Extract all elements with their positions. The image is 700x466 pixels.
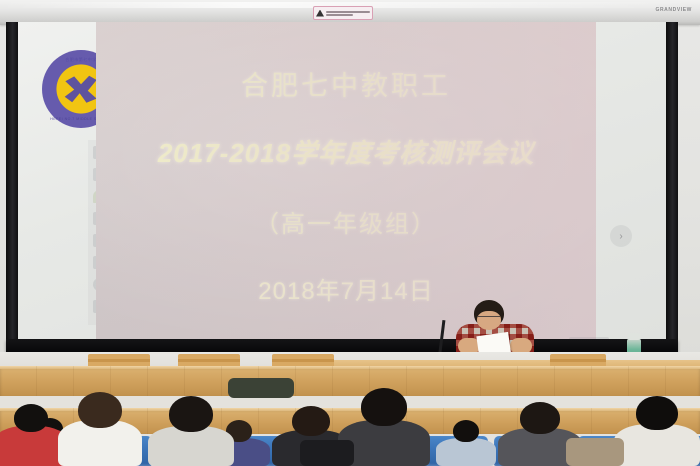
attendee (58, 396, 142, 466)
attendee (614, 400, 700, 466)
screen-frame-right (666, 22, 678, 352)
slide-text-block: 合肥七中教职工 2017-2018学年度考核测评会议 （高一年级组） 2018年… (96, 22, 596, 339)
slide-line-3: （高一年级组） (255, 204, 437, 239)
slideshow-controls[interactable]: ‹ › (556, 334, 622, 339)
attendee (148, 402, 234, 466)
attendee (436, 422, 496, 466)
shoulder-bag (228, 378, 294, 398)
projector-brand-label: GRANDVIEW (655, 7, 692, 13)
projected-slide: 合肥七中教职工 2017-2018学年度考核测评会议 （高一年级组） 2018年… (96, 22, 596, 339)
shoulder-bag (566, 438, 624, 466)
backpack (300, 440, 354, 466)
screen-frame-left (6, 22, 18, 352)
slideshow-toolbar[interactable] (569, 337, 609, 339)
lecture-hall-seating (0, 352, 700, 466)
slide-line-1: 合肥七中教职工 (241, 64, 451, 103)
emblem-bird-icon (64, 74, 98, 104)
projection-screen-surface: 合肥市第七中学 HEFEI NO.7 MIDDLE SCHOOL ‹ 合肥七中教… (18, 22, 666, 339)
slideshow-prev-icon[interactable]: ‹ (556, 337, 560, 339)
slide-line-4: 2018年7月14日 (258, 271, 433, 306)
slideshow-next-icon[interactable]: › (618, 337, 622, 339)
warning-sticker (313, 6, 373, 20)
nav-next-button[interactable]: › (610, 225, 632, 247)
projection-screen-frame: 合肥市第七中学 HEFEI NO.7 MIDDLE SCHOOL ‹ 合肥七中教… (6, 22, 678, 352)
slide-line-2: 2017-2018学年度考核测评会议 (158, 133, 534, 170)
screen-frame-bottom-bar (6, 339, 678, 352)
warning-triangle-icon (316, 10, 324, 17)
presenter-glasses (478, 316, 500, 321)
water-bottle-cap (628, 333, 640, 340)
conference-room-photo: GRANDVIEW 合肥市第七中学 HEFEI NO.7 MIDDLE SCHO… (0, 0, 700, 466)
warning-sticker-text (326, 11, 370, 16)
